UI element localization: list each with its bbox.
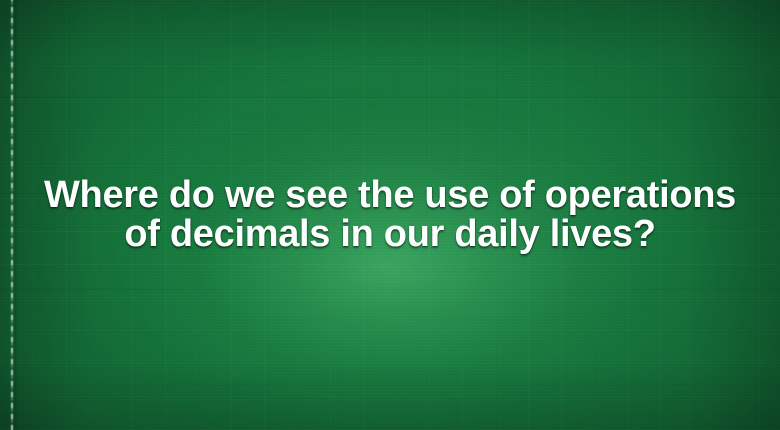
headline-line-1: Where do we see the use of operations: [0, 176, 780, 214]
headline-question: Where do we see the use of operations of…: [0, 176, 780, 253]
slide-canvas: Where do we see the use of operations of…: [0, 0, 780, 430]
headline-line-2: of decimals in our daily lives?: [0, 215, 780, 253]
